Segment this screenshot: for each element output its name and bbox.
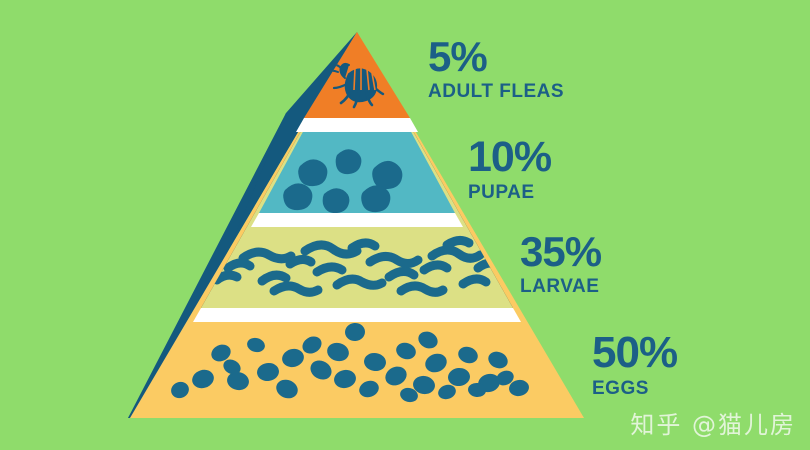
watermark: 知乎 @猫儿房 <box>630 405 796 440</box>
tier-divider-adult-pupae <box>296 118 418 132</box>
tier-divider-larvae-eggs <box>193 308 521 322</box>
label-adult-fleas: 5% ADULT FLEAS <box>428 36 564 101</box>
adult-fleas-name: ADULT FLEAS <box>428 82 564 101</box>
pyramid-chart <box>0 0 810 450</box>
eggs-name: EGGS <box>592 379 677 398</box>
label-pupae: 10% PUPAE <box>468 136 551 202</box>
larvae-name: LARVAE <box>520 277 601 296</box>
pupae-name: PUPAE <box>468 183 551 202</box>
pupae-percent: 10% <box>468 136 551 179</box>
eggs-percent: 50% <box>592 331 677 375</box>
label-larvae: 35% LARVAE <box>520 231 601 296</box>
label-eggs: 50% EGGS <box>592 331 677 398</box>
adult-fleas-percent: 5% <box>428 36 564 78</box>
tier-divider-pupae-larvae <box>251 213 463 227</box>
larvae-percent: 35% <box>520 231 601 273</box>
infographic-canvas: 5% ADULT FLEAS 10% PUPAE 35% LARVAE 50% … <box>0 0 810 450</box>
